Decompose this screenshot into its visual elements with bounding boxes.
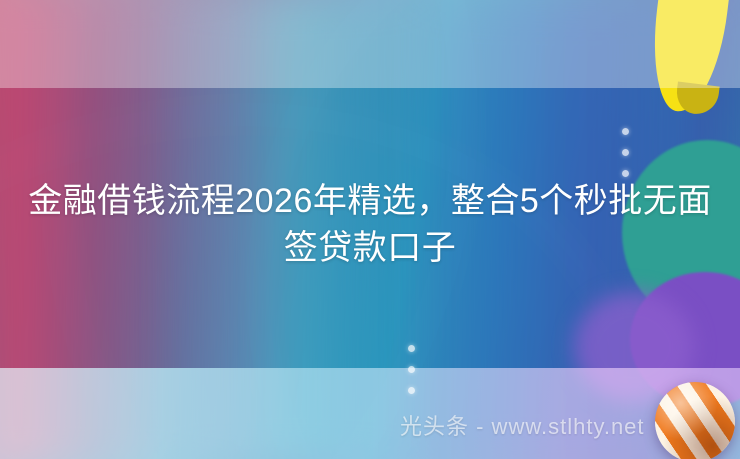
banner-image: 金融借钱流程2026年精选，整合5个秒批无面签贷款口子 光头条 - www.st… [0, 0, 740, 459]
dot-group-lower [408, 345, 415, 394]
dot-icon [622, 170, 629, 177]
headline-text: 金融借钱流程2026年精选，整合5个秒批无面签贷款口子 [0, 178, 740, 272]
dot-group-upper [622, 128, 629, 177]
site-watermark: 光头条 - www.stlhty.net [400, 409, 645, 441]
dot-icon [408, 345, 415, 352]
top-exposure-band [0, 0, 740, 88]
striped-ball-icon [655, 382, 735, 459]
ball-shading [655, 382, 735, 459]
dot-icon [622, 149, 629, 156]
dot-icon [622, 128, 629, 135]
dot-icon [408, 366, 415, 373]
dot-icon [408, 387, 415, 394]
